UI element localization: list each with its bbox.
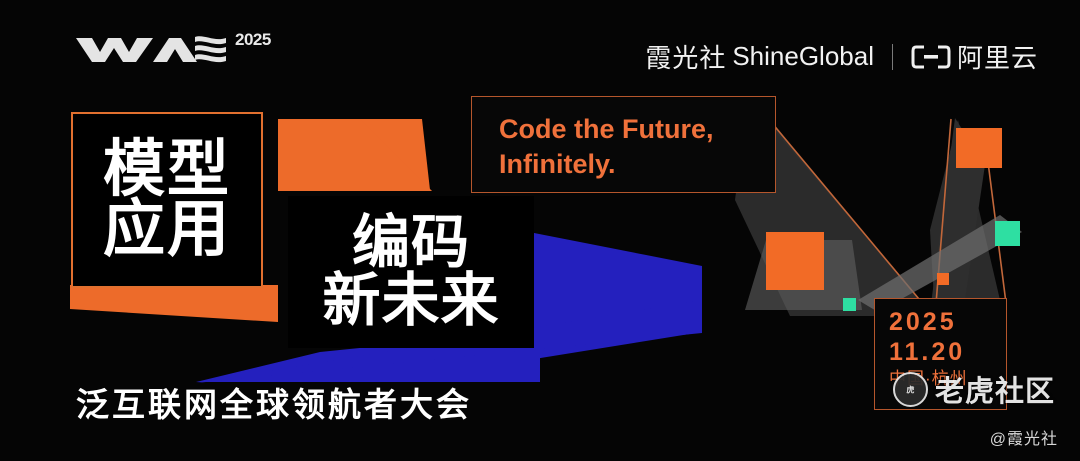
tiger-community-badge-icon: 虎: [893, 372, 928, 407]
orange-wedge-bottom: [70, 285, 278, 322]
watermark-tiger-community: 虎 老虎社区: [893, 368, 1055, 410]
headline-code-line2: 新未来: [322, 272, 499, 330]
wave-logo: 2025: [74, 30, 271, 64]
partner-brand-bar: 霞光社 ShineGlobal 阿里云: [645, 38, 1038, 75]
headline-model-line1: 模型: [103, 140, 231, 200]
orange-square-mid: [766, 232, 824, 290]
watermark-tiger-community-label: 老虎社区: [935, 368, 1055, 410]
wave-logo-year: 2025: [235, 31, 271, 48]
shineglobal-en-label: ShineGlobal: [732, 41, 874, 72]
wave-mark-icon: [74, 30, 232, 64]
watermark-corner: @霞光社: [990, 425, 1058, 449]
orange-square-top: [956, 128, 1002, 168]
event-tagline: 泛互联网全球领航者大会: [76, 378, 472, 426]
brand-divider: [892, 44, 893, 70]
event-date-year: 2025: [889, 308, 1006, 338]
shineglobal-cn-label: 霞光社: [645, 38, 726, 75]
alibaba-cloud-logo: 阿里云: [911, 38, 1038, 75]
event-date-day: 11.20: [889, 338, 1006, 368]
green-square-small: [843, 298, 856, 311]
headline-block-code: 编码 新未来: [288, 196, 534, 348]
slogan-box: Code the Future, Infinitely.: [471, 96, 776, 193]
green-square-large: [995, 221, 1020, 246]
headline-block-model: 模型 应用: [71, 112, 263, 288]
slogan-line-1: Code the Future,: [499, 112, 775, 147]
alibaba-cloud-logo-icon: [911, 44, 951, 70]
orange-square-small: [937, 273, 949, 285]
headline-model-line2: 应用: [103, 200, 231, 260]
alibaba-cloud-cn-label: 阿里云: [957, 38, 1038, 75]
slogan-line-2: Infinitely.: [499, 147, 775, 182]
poster-canvas: 2025 霞光社 ShineGlobal 阿里云 模型 应用 编码 新未来 Co…: [0, 0, 1080, 461]
headline-code-line1: 编码: [352, 214, 470, 272]
tiger-community-badge-text: 虎: [907, 383, 914, 395]
